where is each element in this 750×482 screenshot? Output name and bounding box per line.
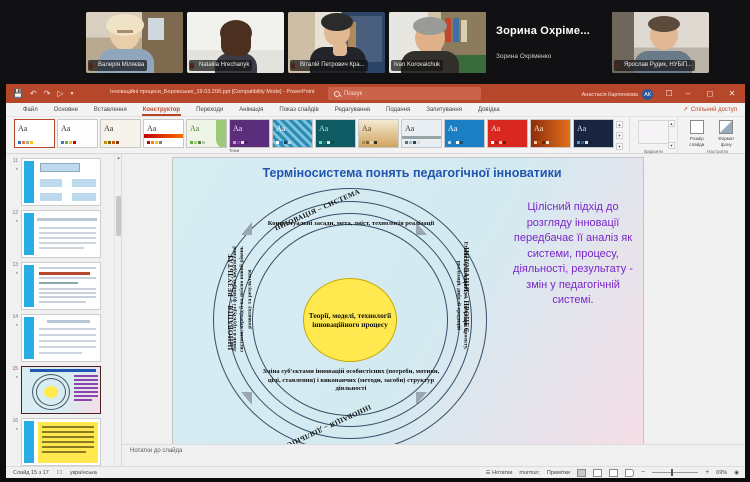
thumb-accent-band	[24, 161, 34, 203]
theme-preview-text: Aa	[491, 124, 500, 133]
participant-name: Віталій Петрович Кра...	[290, 60, 368, 71]
tab-insert[interactable]: Вставлення	[93, 107, 128, 113]
slide-thumbnail-item[interactable]: 14●	[6, 314, 121, 366]
theme-colors	[448, 141, 463, 144]
start-presentation-icon[interactable]: ▷	[57, 89, 63, 98]
minimize-button[interactable]: –	[677, 84, 699, 103]
theme-preview-text: Aa	[190, 124, 199, 133]
theme-thumbnail[interactable]: Aa	[100, 119, 141, 148]
quick-access-toolbar: 💾 ↶ ↷ ▷ ▾	[6, 89, 74, 98]
slide-thumbnail-item[interactable]: 16●	[6, 418, 121, 470]
tab-animations[interactable]: Анімація	[238, 107, 264, 113]
participant-name: Nataliia Hrechanyk	[189, 60, 252, 71]
slide-thumbnail-item[interactable]: 11●	[6, 158, 121, 210]
screen-root: Валерія Міляєва Nataliia Hrechanyk	[0, 0, 750, 482]
tab-design[interactable]: Конструктор	[142, 107, 181, 113]
corner-triangle-bottom-left	[241, 392, 252, 405]
zoom-slider[interactable]	[652, 472, 698, 473]
search-box[interactable]: Пошук	[328, 87, 481, 100]
variants-scroll-up-icon[interactable]: ▲	[668, 120, 675, 127]
theme-thumbnail[interactable]: Aa	[358, 119, 399, 148]
video-conference-strip: Валерія Міляєва Nataliia Hrechanyk	[0, 0, 750, 84]
zoom-out-button[interactable]: −	[641, 469, 645, 476]
normal-view-button[interactable]	[577, 469, 586, 477]
restore-button[interactable]: ◻	[699, 84, 721, 103]
share-button[interactable]: ↗ Спільний доступ	[683, 106, 737, 113]
qat-more-icon[interactable]: ▾	[71, 90, 74, 97]
ribbon-display-options-icon[interactable]: ☐	[661, 84, 677, 103]
search-placeholder: Пошук	[344, 91, 362, 97]
tab-review[interactable]: Редагування	[334, 107, 371, 113]
zoom-level[interactable]: 69%	[716, 470, 727, 476]
slide-thumbnail-item-selected[interactable]: 15●	[6, 366, 121, 418]
current-slide[interactable]: Терміносистема понять педагогічної іннов…	[173, 158, 643, 456]
thumb-accent-band	[24, 213, 34, 255]
themes-more-icon[interactable]: ▼	[616, 143, 623, 150]
reading-view-button[interactable]	[609, 469, 618, 477]
theme-thumbnail[interactable]: Aa	[186, 119, 227, 148]
slide-stage[interactable]: Терміносистема понять педагогічної іннов…	[122, 154, 745, 478]
themes-group-label: Теми	[14, 148, 454, 153]
thumb-title-line	[47, 320, 90, 323]
theme-colors	[104, 141, 119, 144]
window-controls: ☐ – ◻ ✕	[661, 84, 743, 103]
diagram-core: Теорії, моделі, технології інноваційного…	[303, 278, 397, 362]
slide-sorter-view-button[interactable]	[593, 469, 602, 477]
slide-number: 15●	[10, 366, 21, 380]
tab-help[interactable]: Довідка	[477, 107, 501, 113]
video-tile-participant-0[interactable]: Валерія Міляєва	[86, 12, 183, 73]
theme-preview-text: Aa	[534, 124, 543, 133]
ribbon-design: Aa Aa Aa Aa Aa	[6, 117, 745, 154]
theme-colors	[18, 141, 33, 144]
slide-title[interactable]: Терміносистема понять педагогічної іннов…	[191, 166, 633, 180]
participant-name: Ярослав Рудик, НУБіП...	[614, 60, 695, 71]
thumb-accent-band	[24, 265, 34, 307]
theme-preview-text: Aa	[104, 124, 113, 133]
share-icon: ↗	[683, 106, 688, 113]
slide-number: 13●	[10, 262, 21, 276]
tab-transitions[interactable]: Переходи	[195, 107, 224, 113]
slide-number: 16●	[10, 418, 21, 432]
segment-text-left: Зміни в структурі і функціях педагогічно…	[232, 245, 254, 353]
themes-scroll-up-icon[interactable]: ▲	[616, 121, 623, 128]
segment-text-right: Етапи зародження ідеї, створення проекту…	[454, 241, 469, 349]
tab-slideshow[interactable]: Показ слайдів	[278, 107, 319, 113]
theme-thumbnail[interactable]: Aa	[530, 119, 571, 148]
slide-number: 11●	[10, 158, 21, 172]
active-speaker-name: Зорина Охріме...	[496, 25, 608, 37]
corner-triangle-bottom-right	[416, 392, 427, 405]
slide-thumbnail[interactable]	[21, 158, 101, 206]
theme-preview-text: Aa	[61, 124, 70, 133]
slide-counter[interactable]: Слайд 15 з 17	[13, 470, 49, 476]
theme-thumbnail[interactable]: Aa	[229, 119, 270, 148]
account-info[interactable]: Анастасія Карпенкова АК	[582, 89, 653, 100]
status-left: Слайд 15 з 17 ☐ українська	[6, 470, 97, 476]
comments-button[interactable]: Примітки	[547, 470, 570, 476]
thumb-accent-band	[24, 317, 34, 359]
theme-thumbnail[interactable]: Aa	[57, 119, 98, 148]
document-title: Інноваційні процеси_Боровських_19.03.20б…	[110, 89, 315, 95]
diagram-core-text: Теорії, моделі, технології інноваційного…	[304, 311, 396, 329]
theme-preview-text: Aa	[233, 124, 242, 133]
slide-side-note[interactable]: Цілісний підхід до розгляду інновації пе…	[511, 200, 635, 309]
thumb-accent-band	[24, 421, 34, 463]
segment-text-bottom: Зміна суб'єктами інновацій особистісних …	[257, 368, 445, 394]
theme-thumbnail[interactable]: Aa	[14, 119, 55, 148]
tab-home[interactable]: Основне	[53, 107, 79, 113]
theme-preview-text: Aa	[18, 124, 27, 133]
slide-number: 14●	[10, 314, 21, 328]
theme-preview-text: Aa	[448, 124, 457, 133]
theme-colors	[362, 141, 377, 144]
slide-thumbnail-item[interactable]: 13●	[6, 262, 121, 314]
variants-more-icon[interactable]: ▼	[668, 142, 675, 149]
theme-thumbnail[interactable]: Aa	[315, 119, 356, 148]
participant-name: Валерія Міляєва	[88, 60, 147, 71]
slide-thumbnail[interactable]	[21, 262, 101, 310]
accessibility-icon[interactable]: ☐	[57, 470, 62, 476]
thumb-title-line	[37, 218, 97, 221]
terminology-system-diagram[interactable]: ІННОВАЦІЯ – СИСТЕМА ІННОВАЦІЯ – ПРОЦЕС І…	[211, 186, 491, 454]
slide-thumbnail[interactable]	[21, 210, 101, 258]
slide-size-label: Розмір слайда	[689, 136, 704, 147]
theme-colors	[491, 141, 506, 144]
scrollbar-thumb[interactable]	[116, 196, 121, 236]
theme-colors	[61, 141, 76, 144]
video-tile-participant-1[interactable]: Nataliia Hrechanyk	[187, 12, 284, 73]
variants-gallery[interactable]	[638, 120, 669, 144]
themes-gallery[interactable]: Aa Aa Aa Aa Aa	[6, 117, 623, 150]
redo-icon[interactable]: ↷	[44, 89, 51, 98]
theme-thumbnail[interactable]: Aa	[401, 119, 442, 148]
variants-group: ▲ ▼ Варіанти	[629, 117, 677, 154]
theme-preview-text: Aa	[276, 124, 285, 133]
share-label: Спільний доступ	[691, 107, 737, 113]
theme-colors	[577, 141, 592, 144]
slide-thumbnail[interactable]	[21, 314, 101, 362]
customize-group: Розмір слайда Формат фону Настроїти	[677, 117, 745, 154]
slide-thumbnail-item[interactable]: 12●	[6, 210, 121, 262]
theme-preview-text: Aa	[319, 124, 328, 133]
slide-thumbnail[interactable]	[21, 366, 101, 414]
fit-to-window-icon[interactable]: ◉	[734, 470, 739, 476]
notes-placeholder: Нотатки до слайда	[130, 448, 182, 454]
zoom-slider-handle[interactable]	[671, 469, 673, 476]
avatar[interactable]: АК	[642, 89, 653, 100]
theme-colors	[233, 141, 248, 144]
video-tile-participant-2[interactable]: Віталій Петрович Кра...	[288, 12, 385, 73]
comments-toggle-button[interactable]: murmur;	[519, 470, 539, 476]
segment-text-top: Концептуальні засади, мета, зміст, техно…	[263, 220, 439, 229]
theme-colors	[319, 141, 334, 144]
ribbon-tabs: Файл Основне Вставлення Конструктор Пере…	[6, 103, 745, 117]
theme-preview-text: Aa	[362, 124, 371, 133]
scroll-up-icon[interactable]: ▲	[115, 154, 122, 162]
theme-thumbnail[interactable]: Aa	[444, 119, 485, 148]
video-tile-participant-4[interactable]: Ярослав Рудик, НУБіП...	[612, 12, 709, 73]
language-indicator[interactable]: українська	[70, 470, 97, 476]
slide-panel-scrollbar[interactable]: ▲ ▼	[114, 154, 121, 478]
work-area: 11● 12●	[6, 154, 745, 478]
format-background-label: Формат фону	[718, 136, 734, 147]
slide-thumbnail[interactable]	[21, 418, 101, 466]
participant-name: Ivan Korovaichuk	[391, 60, 443, 71]
status-bar: Слайд 15 з 17 ☐ українська ☰ Нотатки mur…	[6, 466, 745, 478]
theme-preview-text: Aa	[577, 124, 586, 133]
tab-inquire[interactable]: Запитування	[425, 107, 463, 113]
theme-thumbnail[interactable]: Aa	[272, 119, 313, 148]
slideshow-view-button[interactable]	[625, 469, 634, 477]
notes-toggle-button[interactable]: ☰ Нотатки	[486, 470, 513, 476]
save-icon[interactable]: 💾	[13, 89, 23, 98]
theme-colors	[534, 141, 549, 144]
themes-scroll-down-icon[interactable]: ▼	[616, 132, 623, 139]
theme-thumbnail[interactable]: Aa	[487, 119, 528, 148]
status-right: ☰ Нотатки murmur; Примітки − + 69% ◉	[486, 469, 745, 477]
tab-view[interactable]: Подання	[385, 107, 411, 113]
active-speaker-info: Зорина Охріме... Зорина Охріменко	[490, 25, 608, 60]
slide-size-icon	[690, 120, 704, 134]
close-button[interactable]: ✕	[721, 84, 743, 103]
corner-triangle-top-left	[241, 222, 252, 235]
account-name: Анастасія Карпенкова	[582, 92, 638, 98]
zoom-in-button[interactable]: +	[705, 469, 709, 476]
theme-colors	[405, 141, 420, 144]
format-background-icon	[719, 120, 733, 134]
theme-colors	[147, 141, 162, 144]
theme-thumbnail[interactable]: Aa	[143, 119, 184, 148]
powerpoint-window: 💾 ↶ ↷ ▷ ▾ Інноваційні процеси_Боровських…	[6, 84, 745, 478]
theme-colors	[190, 141, 205, 144]
tab-file[interactable]: Файл	[22, 107, 39, 113]
theme-preview-text: Aa	[405, 124, 414, 133]
active-speaker-subtitle: Зорина Охріменко	[496, 53, 608, 60]
theme-preview-text: Aa	[147, 124, 156, 133]
title-bar: 💾 ↶ ↷ ▷ ▾ Інноваційні процеси_Боровських…	[6, 84, 745, 103]
variants-scroll-controls[interactable]: ▲ ▼	[668, 120, 675, 149]
slide-number: 12●	[10, 210, 21, 224]
search-icon	[334, 91, 340, 97]
theme-colors	[276, 141, 291, 144]
theme-thumbnail[interactable]: Aa	[573, 119, 614, 148]
slide-thumbnail-panel[interactable]: 11● 12●	[6, 154, 122, 478]
video-tile-participant-3-active-speaker[interactable]: Ivan Korovaichuk	[389, 12, 486, 73]
undo-icon[interactable]: ↶	[30, 89, 37, 98]
themes-scroll-controls[interactable]: ▲ ▼ ▼	[616, 121, 623, 150]
notes-pane[interactable]: Нотатки до слайда	[122, 444, 745, 466]
